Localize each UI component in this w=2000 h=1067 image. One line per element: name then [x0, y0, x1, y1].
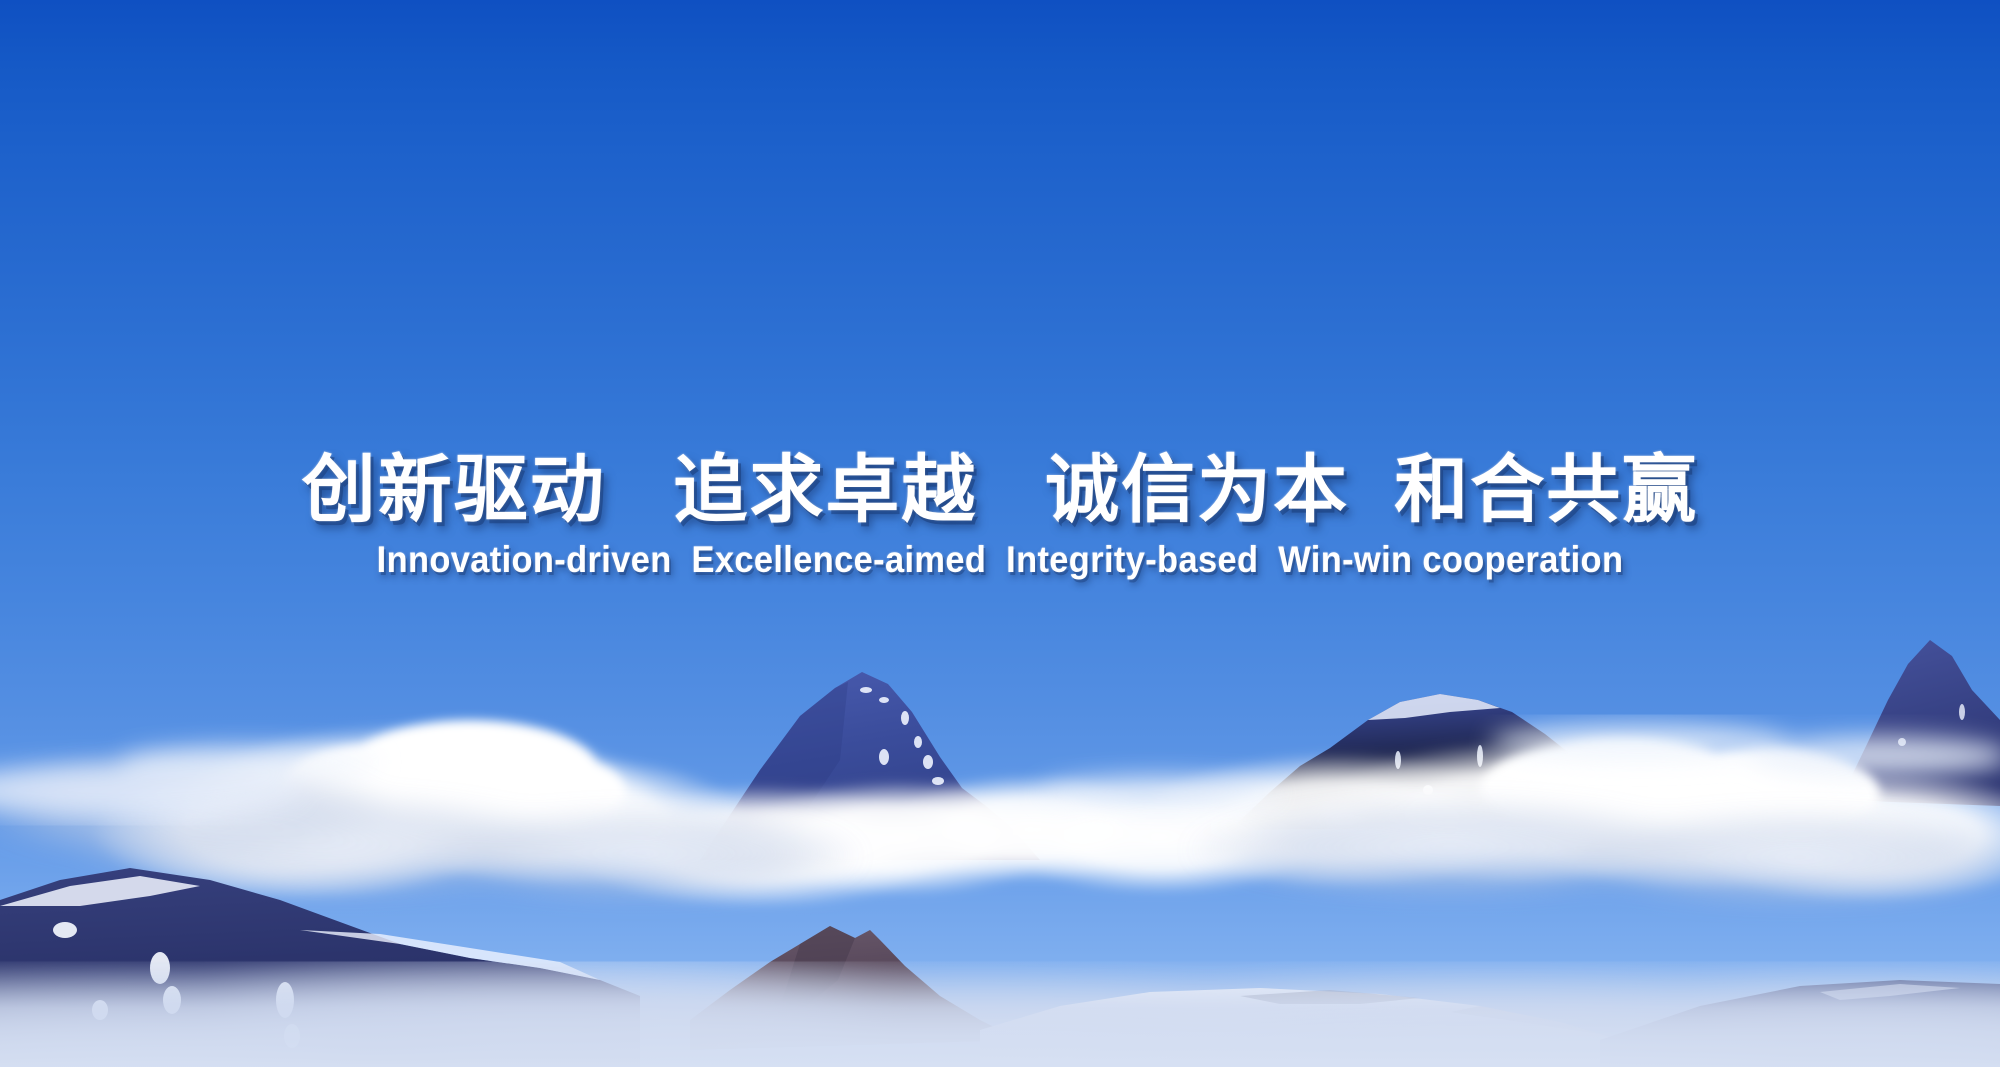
banner-image: 创新驱动 追求卓越 诚信为本 和合共赢 Innovation-driven Ex…: [0, 0, 2000, 1067]
mountain-and-cloud-scene: [0, 0, 2000, 1067]
bottom-haze-band: [0, 960, 2000, 1067]
